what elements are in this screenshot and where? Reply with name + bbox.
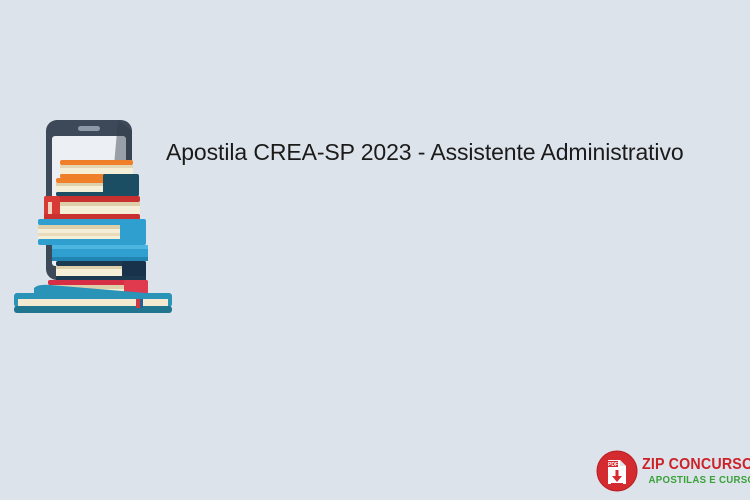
- pdf-download-icon: PDF: [596, 450, 638, 492]
- brand-logo[interactable]: PDF ZIP CONCURSOS APOSTILAS E CURSOS: [596, 448, 744, 494]
- stack-of-books-with-smartphone-illustration: [8, 118, 178, 313]
- logo-subtitle: APOSTILAS E CURSOS: [642, 475, 750, 486]
- book-blue-middle: [38, 219, 146, 245]
- promo-banner: Apostila CREA-SP 2023 - Assistente Admin…: [0, 0, 750, 500]
- svg-text:PDF: PDF: [608, 462, 618, 468]
- book-base-teal: [14, 285, 172, 313]
- book-red-upper: [44, 196, 140, 220]
- page-title: Apostila CREA-SP 2023 - Assistente Admin…: [166, 137, 726, 167]
- logo-title: ZIP CONCURSOS: [642, 457, 750, 473]
- book-navy-lower: [56, 261, 146, 281]
- book-cyan: [52, 245, 148, 261]
